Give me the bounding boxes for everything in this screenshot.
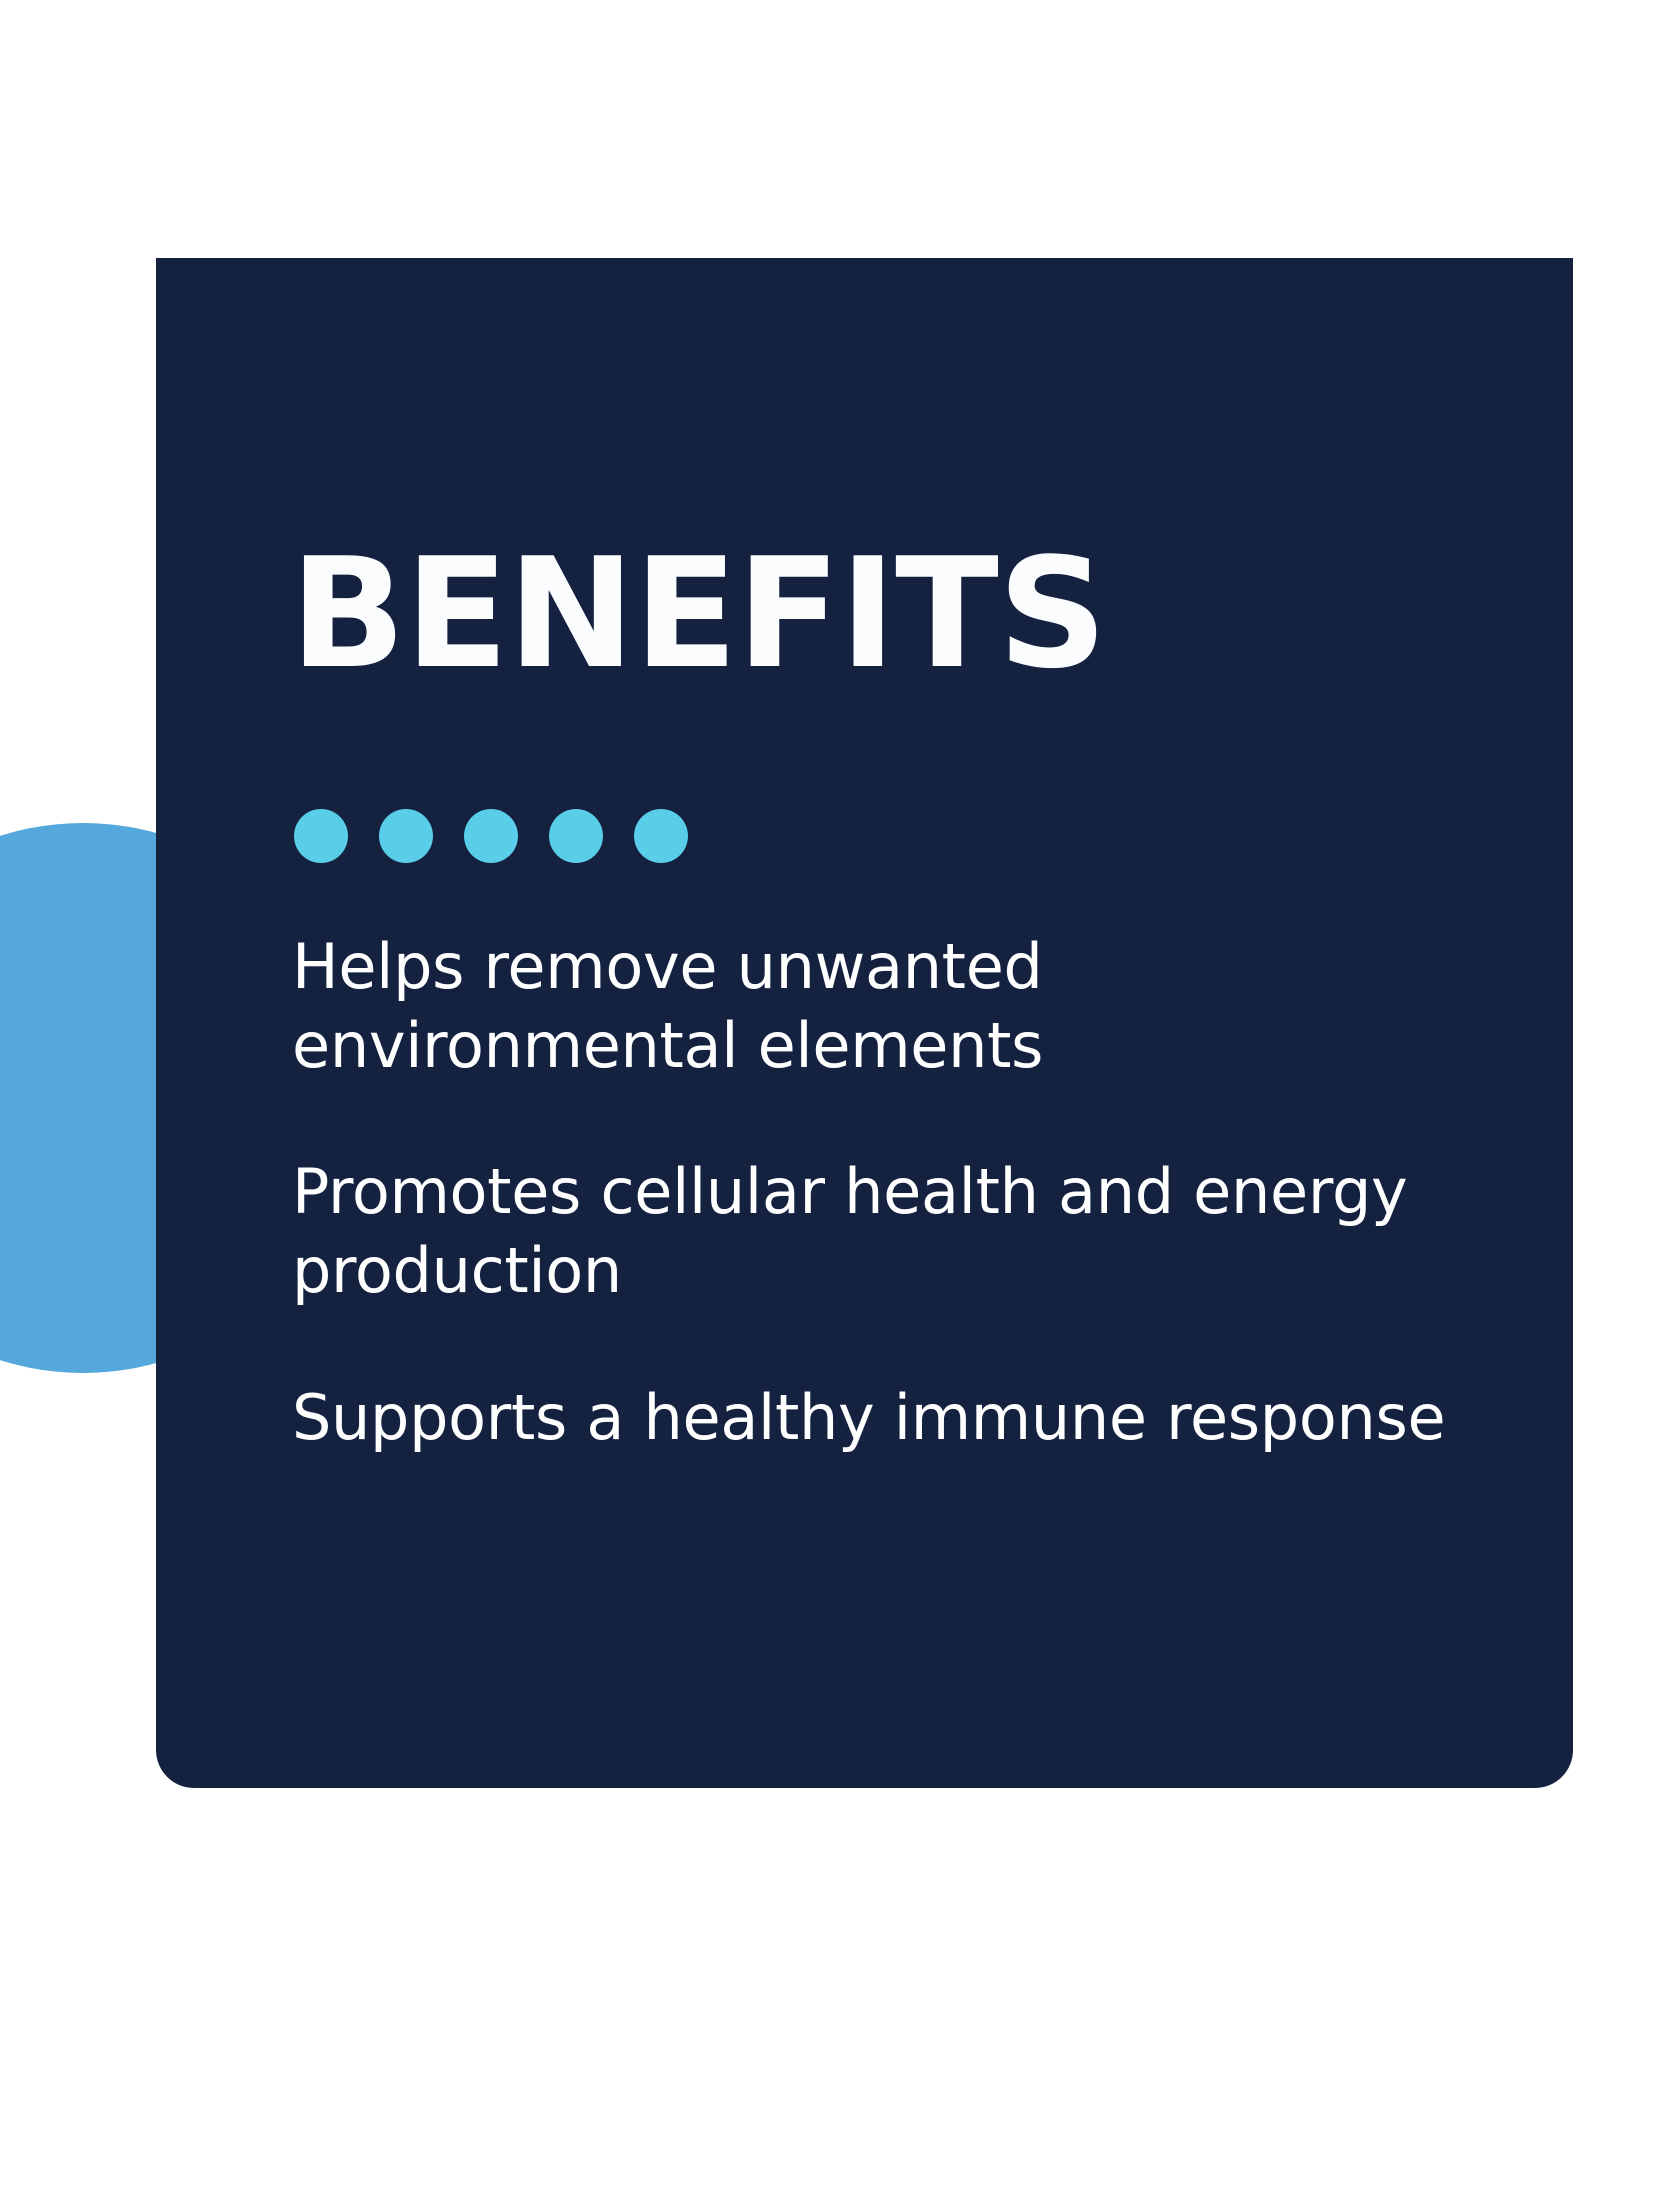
divider-dot-2 — [379, 809, 433, 863]
list-item: Promotes cellular health and energy prod… — [292, 1153, 1472, 1310]
benefit-list: Helps remove unwanted environmental elem… — [292, 928, 1472, 1458]
list-item: Supports a healthy immune response — [292, 1379, 1472, 1458]
benefits-card: BENEFITS Helps remove unwanted environme… — [156, 258, 1573, 1788]
divider-dot-3 — [464, 809, 518, 863]
page-title: BENEFITS — [290, 538, 1106, 690]
divider-dot-5 — [634, 809, 688, 863]
divider-dot-4 — [549, 809, 603, 863]
dot-divider — [294, 809, 688, 863]
benefits-slide: BENEFITS Helps remove unwanted environme… — [0, 0, 1680, 2198]
list-item: Helps remove unwanted environmental elem… — [292, 928, 1472, 1085]
divider-dot-1 — [294, 809, 348, 863]
